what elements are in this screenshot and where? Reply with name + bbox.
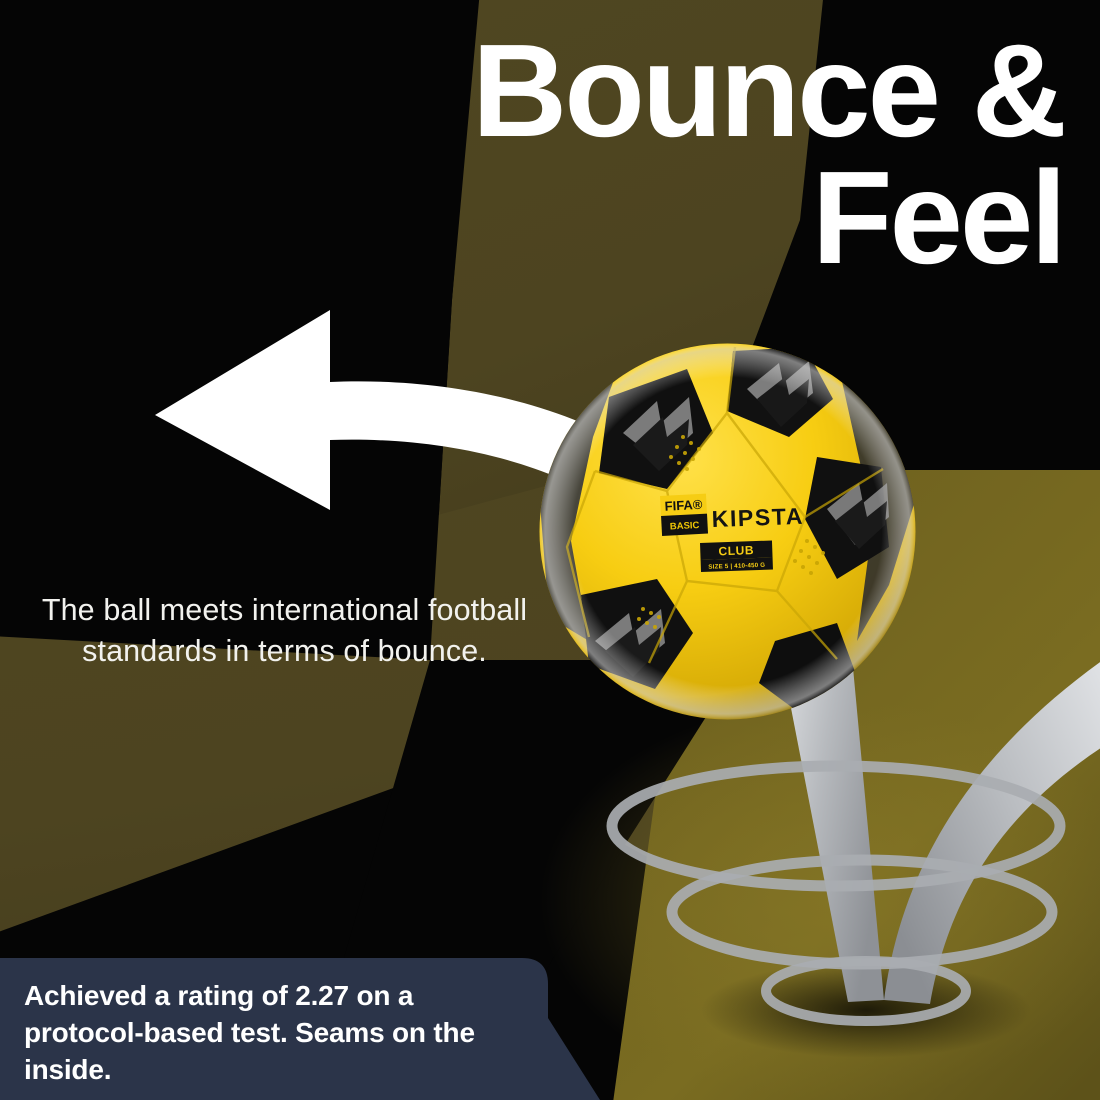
caption-text: Achieved a rating of 2.27 on a protocol-… [24, 978, 529, 1089]
ball-panel-graphics [539, 344, 916, 720]
football-product-image [537, 341, 918, 722]
caption-panel: Achieved a rating of 2.27 on a protocol-… [0, 958, 600, 1100]
body-copy: The ball meets international football st… [22, 590, 547, 671]
poster-canvas: FIFA® BASIC KIPSTA CLUB SIZE 5 | 410-450… [0, 0, 1100, 1100]
page-title: Bounce & Feel [284, 28, 1064, 281]
